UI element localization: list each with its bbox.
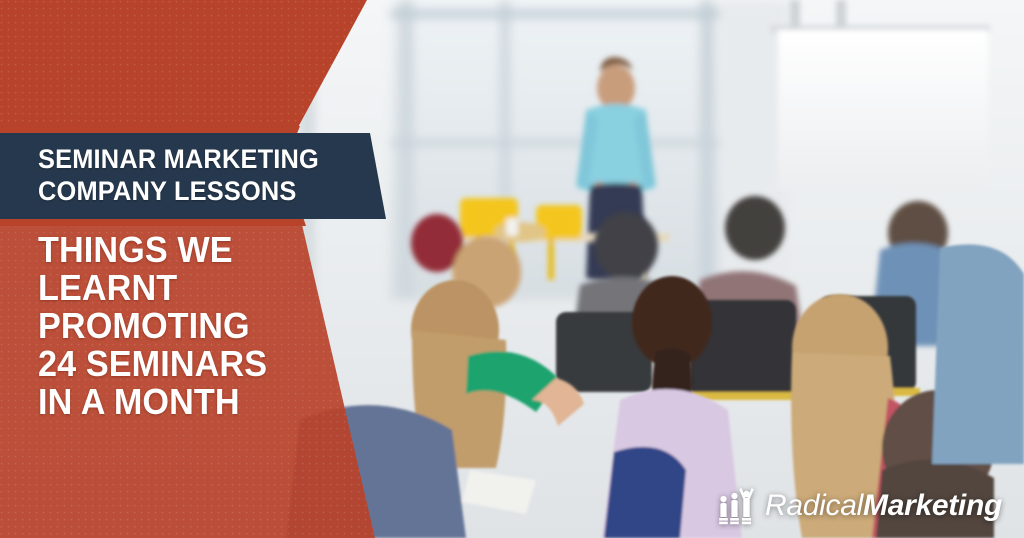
headline-line-3: PROMOTING — [38, 307, 314, 345]
page-title: THINGS WE LEARNT PROMOTING 24 SEMINARS I… — [38, 231, 314, 421]
seminar-marketing-banner: SEMINAR MARKETING COMPANY LESSONS THINGS… — [0, 0, 1024, 538]
kicker-line-2: COMPANY LESSONS — [38, 175, 348, 207]
logo[interactable]: RadicalMarketing — [718, 486, 1002, 526]
logo-wordmark: RadicalMarketing — [765, 491, 1002, 521]
kicker-text: SEMINAR MARKETING COMPANY LESSONS — [38, 143, 348, 207]
logo-word-radical: Radical — [765, 489, 863, 522]
headline-line-4: 24 SEMINARS — [38, 345, 314, 383]
kicker-line-1: SEMINAR MARKETING — [38, 143, 348, 175]
headline-line-5: IN A MONTH — [38, 383, 314, 421]
headline-line-1: THINGS WE — [38, 231, 314, 269]
logo-word-marketing: Marketing — [863, 489, 1002, 522]
radical-marketing-people-icon — [718, 486, 756, 526]
headline-line-2: LEARNT — [38, 269, 314, 307]
